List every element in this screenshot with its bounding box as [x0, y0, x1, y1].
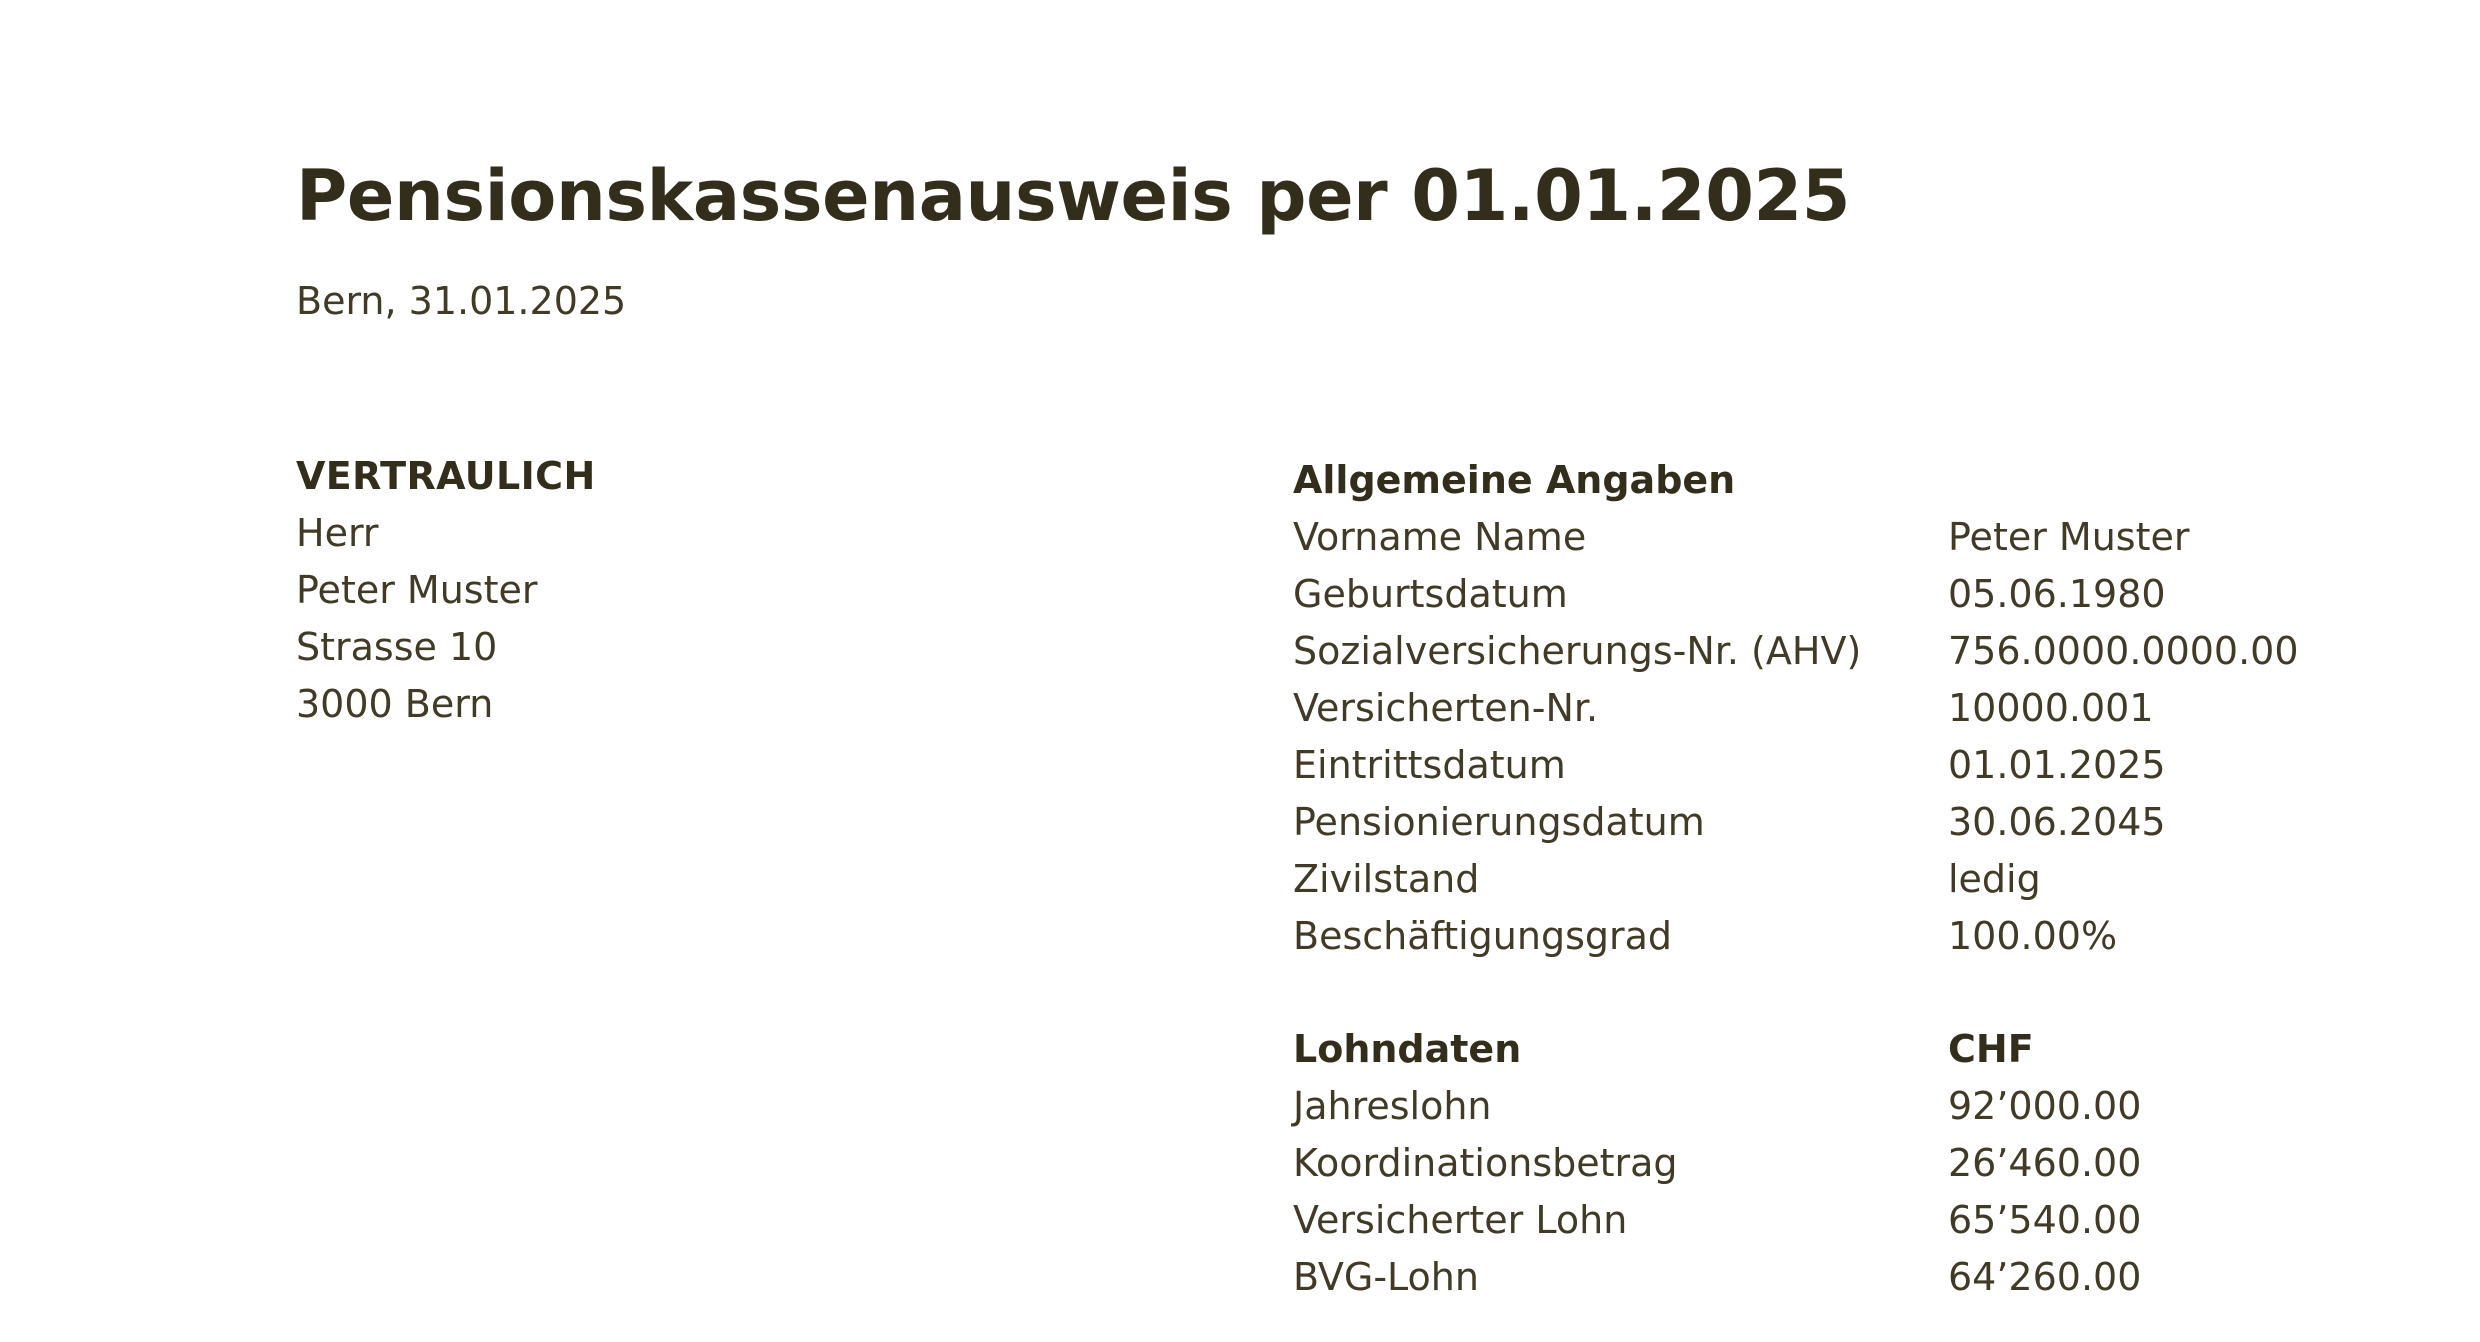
recipient-line-city: 3000 Bern [296, 676, 1196, 733]
table-row: Versicherter Lohn 65’540.00 [1293, 1192, 2373, 1249]
document-page: Pensionskassenausweis per 01.01.2025 Ber… [0, 0, 2480, 1342]
row-label: Versicherter Lohn [1293, 1192, 1948, 1249]
recipient-line-name: Peter Muster [296, 562, 1196, 619]
row-value: Peter Muster [1948, 509, 2373, 566]
row-value: 100.00% [1948, 908, 2373, 965]
recipient-line-street: Strasse 10 [296, 619, 1196, 676]
row-label: Koordinationsbetrag [1293, 1135, 1948, 1192]
table-row: BVG-Lohn 64’260.00 [1293, 1249, 2373, 1306]
row-value: ledig [1948, 851, 2373, 908]
section-salary-data-currency: CHF [1948, 1021, 2373, 1078]
row-value: 64’260.00 [1948, 1249, 2373, 1306]
table-row: Sozialversicherungs-Nr. (AHV) 756.0000.0… [1293, 623, 2373, 680]
recipient-address-block: VERTRAULICH Herr Peter Muster Strasse 10… [296, 448, 1196, 733]
recipient-line-salutation: Herr [296, 505, 1196, 562]
table-row: Geburtsdatum 05.06.1980 [1293, 566, 2373, 623]
row-label: Vorname Name [1293, 509, 1948, 566]
row-value: 65’540.00 [1948, 1192, 2373, 1249]
table-row: Beschäftigungsgrad 100.00% [1293, 908, 2373, 965]
table-row: Eintrittsdatum 01.01.2025 [1293, 737, 2373, 794]
section-general-info-title: Allgemeine Angaben [1293, 452, 1948, 509]
row-label: Beschäftigungsgrad [1293, 908, 1948, 965]
details-column: Allgemeine Angaben Vorname Name Peter Mu… [1293, 452, 2373, 1306]
section-general-info-header: Allgemeine Angaben [1293, 452, 2373, 509]
table-row: Jahreslohn 92’000.00 [1293, 1078, 2373, 1135]
row-value: 92’000.00 [1948, 1078, 2373, 1135]
row-value: 10000.001 [1948, 680, 2373, 737]
section-general-info-unit [1948, 452, 2373, 509]
section-salary-data-title: Lohndaten [1293, 1021, 1948, 1078]
table-row: Koordinationsbetrag 26’460.00 [1293, 1135, 2373, 1192]
table-row: Versicherten-Nr. 10000.001 [1293, 680, 2373, 737]
section-salary-data: Lohndaten CHF Jahreslohn 92’000.00 Koord… [1293, 1021, 2373, 1306]
confidential-label: VERTRAULICH [296, 448, 1196, 505]
row-label: Sozialversicherungs-Nr. (AHV) [1293, 623, 1948, 680]
row-label: Jahreslohn [1293, 1078, 1948, 1135]
row-value: 05.06.1980 [1948, 566, 2373, 623]
row-value: 756.0000.0000.00 [1948, 623, 2373, 680]
row-value: 30.06.2045 [1948, 794, 2373, 851]
row-label: Eintrittsdatum [1293, 737, 1948, 794]
page-title: Pensionskassenausweis per 01.01.2025 [296, 160, 1850, 234]
row-value: 01.01.2025 [1948, 737, 2373, 794]
row-value: 26’460.00 [1948, 1135, 2373, 1192]
table-row: Vorname Name Peter Muster [1293, 509, 2373, 566]
row-label: Versicherten-Nr. [1293, 680, 1948, 737]
row-label: Pensionierungsdatum [1293, 794, 1948, 851]
section-salary-data-header: Lohndaten CHF [1293, 1021, 2373, 1078]
section-general-info: Allgemeine Angaben Vorname Name Peter Mu… [1293, 452, 2373, 965]
row-label: BVG-Lohn [1293, 1249, 1948, 1306]
table-row: Pensionierungsdatum 30.06.2045 [1293, 794, 2373, 851]
table-row: Zivilstand ledig [1293, 851, 2373, 908]
document-place-and-date: Bern, 31.01.2025 [296, 281, 626, 323]
row-label: Geburtsdatum [1293, 566, 1948, 623]
row-label: Zivilstand [1293, 851, 1948, 908]
